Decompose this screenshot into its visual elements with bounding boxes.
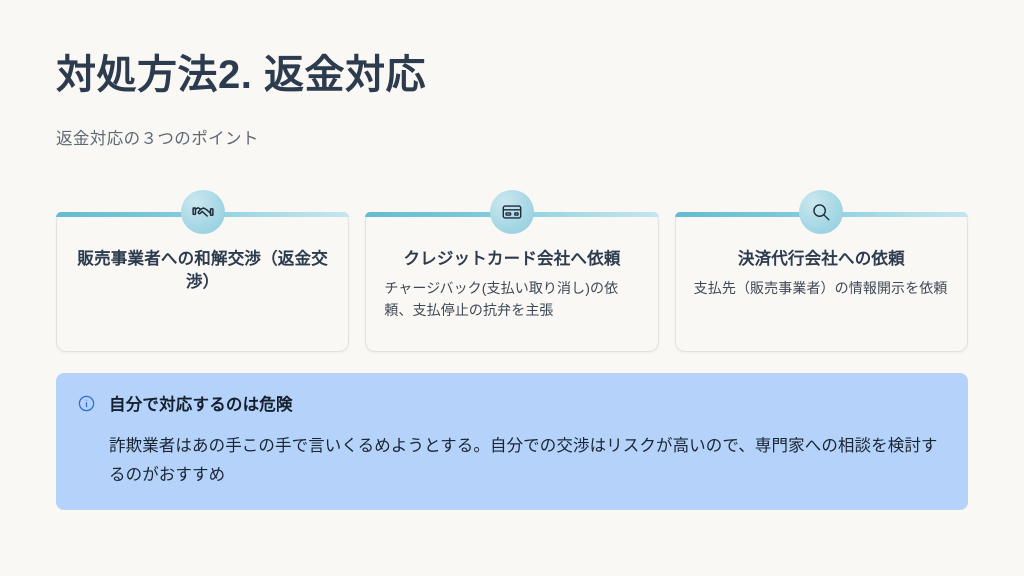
page-subtitle: 返金対応の３つのポイント [56, 99, 968, 149]
point-card-2: クレジットカード会社へ依頼 チャージバック(支払い取り消し)の依頼、支払停止の抗… [365, 212, 658, 352]
page-title: 対処方法2. 返金対応 [56, 52, 968, 99]
slide-header: 対処方法2. 返金対応 返金対応の３つのポイント [56, 52, 968, 149]
slide: 対処方法2. 返金対応 返金対応の３つのポイント 販売事業者への和解交渉（返金交… [0, 0, 1024, 576]
credit-card-icon [490, 190, 534, 234]
warning-text: 詐欺業者はあの手この手で言いくるめようとする。自分での交渉はリスクが高いので、専… [78, 415, 944, 490]
warning-callout: 自分で対応するのは危険 詐欺業者はあの手この手で言いくるめようとする。自分での交… [56, 373, 968, 510]
point-card-1: 販売事業者への和解交渉（返金交渉） [56, 212, 349, 352]
card-body: 支払先（販売事業者）の情報開示を依頼 [694, 271, 949, 299]
card-title: 販売事業者への和解交渉（返金交渉） [75, 248, 330, 294]
point-card-3: 決済代行会社への依頼 支払先（販売事業者）の情報開示を依頼 [675, 212, 968, 352]
handshake-icon [181, 190, 225, 234]
card-title: 決済代行会社への依頼 [694, 248, 949, 271]
point-cards: 販売事業者への和解交渉（返金交渉） クレジットカード会社へ依頼 チャージバック(… [56, 212, 968, 352]
magnifier-icon [799, 190, 843, 234]
card-title: クレジットカード会社へ依頼 [384, 248, 639, 271]
card-body: チャージバック(支払い取り消し)の依頼、支払停止の抗弁を主張 [384, 271, 639, 322]
warning-callout-header: 自分で対応するのは危険 [78, 391, 944, 415]
warning-title: 自分で対応するのは危険 [109, 391, 293, 415]
info-icon [78, 395, 95, 412]
